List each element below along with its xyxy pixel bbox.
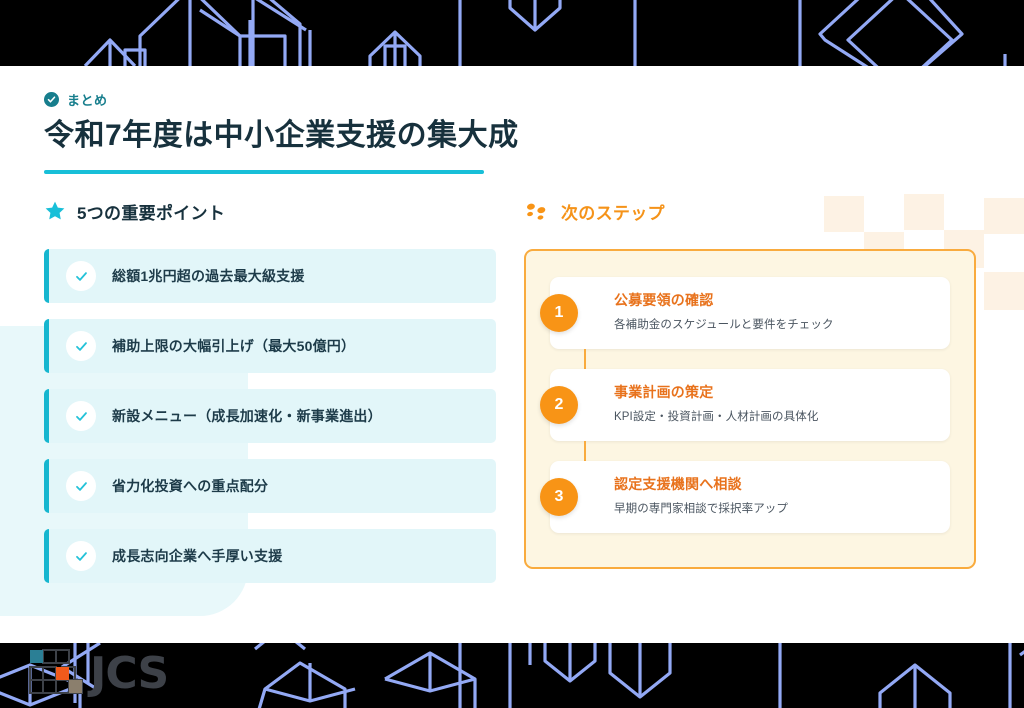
step-row: 2 事業計画の策定 KPI設定・投資計画・人材計画の具体化	[550, 369, 950, 441]
footprints-icon	[524, 200, 550, 222]
top-decoration-band	[0, 0, 1024, 66]
next-steps-column: 次のステップ 1 公募要領の確認 各補助金のスケジュールと要件をチェック 2 事…	[524, 198, 976, 599]
check-icon	[66, 401, 96, 431]
check-circle-icon	[44, 92, 59, 107]
step-row: 3 認定支援機関へ相談 早期の専門家相談で採択率アップ	[550, 461, 950, 533]
point-label: 成長志向企業へ手厚い支援	[112, 546, 282, 566]
step-description: 各補助金のスケジュールと要件をチェック	[614, 316, 932, 332]
check-icon	[66, 261, 96, 291]
step-number-badge: 2	[540, 386, 578, 424]
steps-panel: 1 公募要領の確認 各補助金のスケジュールと要件をチェック 2 事業計画の策定 …	[524, 249, 976, 569]
content-wrapper: まとめ 令和7年度は中小企業支援の集大成 5つの重要ポイント 総額1兆円超の過去…	[0, 66, 1024, 599]
point-card: 省力化投資への重点配分	[44, 459, 496, 513]
step-number-badge: 1	[540, 294, 578, 332]
key-points-column: 5つの重要ポイント 総額1兆円超の過去最大級支援 補助上限の大幅引上げ（最大50…	[44, 198, 496, 599]
grid-squares-logo-icon	[22, 646, 84, 702]
step-title: 認定支援機関へ相談	[614, 474, 932, 494]
title-underline-rule	[44, 170, 484, 174]
key-points-heading: 5つの重要ポイント	[77, 199, 225, 224]
star-icon	[44, 200, 66, 222]
point-card: 新設メニュー（成長加速化・新事業進出）	[44, 389, 496, 443]
page-title: 令和7年度は中小企業支援の集大成	[44, 118, 980, 154]
point-card: 補助上限の大幅引上げ（最大50億円）	[44, 319, 496, 373]
eyebrow-label: まとめ	[67, 90, 108, 109]
wireframe-cubes-top-icon	[0, 0, 1024, 66]
logo-wordmark: JCS	[90, 652, 168, 696]
point-label: 補助上限の大幅引上げ（最大50億円）	[112, 336, 355, 356]
check-icon	[66, 471, 96, 501]
footer-logo: JCS	[22, 646, 168, 702]
next-steps-heading: 次のステップ	[561, 199, 665, 224]
two-column-layout: 5つの重要ポイント 総額1兆円超の過去最大級支援 補助上限の大幅引上げ（最大50…	[44, 198, 980, 599]
step-description: KPI設定・投資計画・人材計画の具体化	[614, 408, 932, 424]
slide-content-sheet: まとめ 令和7年度は中小企業支援の集大成 5つの重要ポイント 総額1兆円超の過去…	[0, 66, 1024, 643]
step-description: 早期の専門家相談で採択率アップ	[614, 500, 932, 516]
point-card: 総額1兆円超の過去最大級支援	[44, 249, 496, 303]
check-icon	[66, 541, 96, 571]
next-steps-heading-row: 次のステップ	[524, 198, 976, 224]
eyebrow-badge: まとめ	[44, 90, 980, 109]
step-number-badge: 3	[540, 478, 578, 516]
step-title: 公募要領の確認	[614, 290, 932, 310]
point-card: 成長志向企業へ手厚い支援	[44, 529, 496, 583]
point-label: 省力化投資への重点配分	[112, 476, 268, 496]
step-title: 事業計画の策定	[614, 382, 932, 402]
point-label: 新設メニュー（成長加速化・新事業進出）	[112, 406, 382, 426]
step-row: 1 公募要領の確認 各補助金のスケジュールと要件をチェック	[550, 277, 950, 349]
check-icon	[66, 331, 96, 361]
point-label: 総額1兆円超の過去最大級支援	[112, 266, 305, 286]
key-points-heading-row: 5つの重要ポイント	[44, 198, 496, 224]
